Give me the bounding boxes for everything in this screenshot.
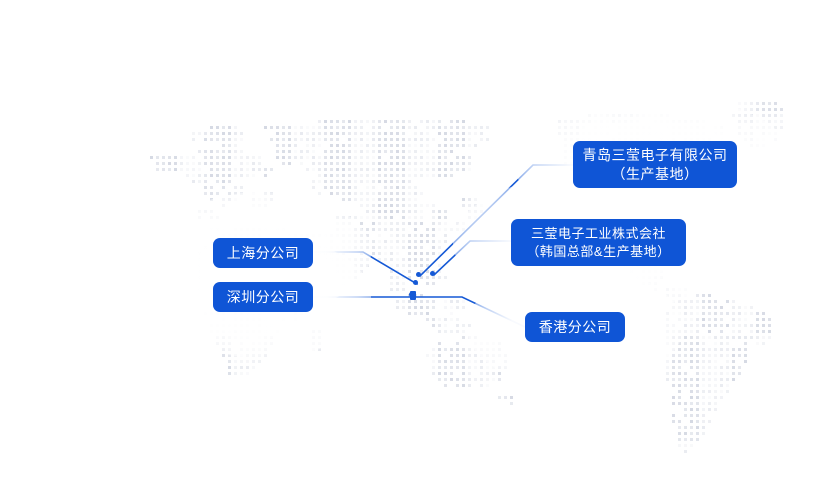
label-korea-hq-line-2: （韩国总部&生产基地）: [526, 243, 670, 261]
world-map-infographic: 青岛三莹电子有限公司（生产基地）三莹电子工业株式会社（韩国总部&生产基地）上海分…: [0, 0, 824, 480]
label-hongkong[interactable]: 香港分公司: [525, 312, 625, 342]
connector-shanghai: [313, 252, 417, 284]
label-korea-hq-line-1: 三莹电子工业株式会社: [531, 225, 666, 243]
map-marker-junction: [410, 291, 416, 300]
label-hongkong-line-1: 香港分公司: [539, 318, 612, 337]
label-qingdao-line-1: 青岛三莹电子有限公司: [583, 146, 728, 165]
label-shenzhen[interactable]: 深圳分公司: [213, 282, 313, 312]
label-shanghai-line-1: 上海分公司: [227, 244, 300, 263]
map-marker-qingdao[interactable]: [416, 272, 421, 277]
map-marker-shanghai[interactable]: [413, 280, 418, 285]
label-korea-hq[interactable]: 三莹电子工业株式会社（韩国总部&生产基地）: [511, 219, 686, 266]
connector-hongkong: [413, 297, 525, 327]
label-qingdao[interactable]: 青岛三莹电子有限公司（生产基地）: [573, 141, 737, 188]
label-shenzhen-line-1: 深圳分公司: [227, 288, 300, 307]
label-shanghai[interactable]: 上海分公司: [213, 238, 313, 268]
connector-korea: [434, 241, 511, 275]
connector-lines: [0, 0, 824, 480]
label-qingdao-line-2: （生产基地）: [612, 165, 699, 184]
map-marker-korea[interactable]: [430, 271, 435, 276]
